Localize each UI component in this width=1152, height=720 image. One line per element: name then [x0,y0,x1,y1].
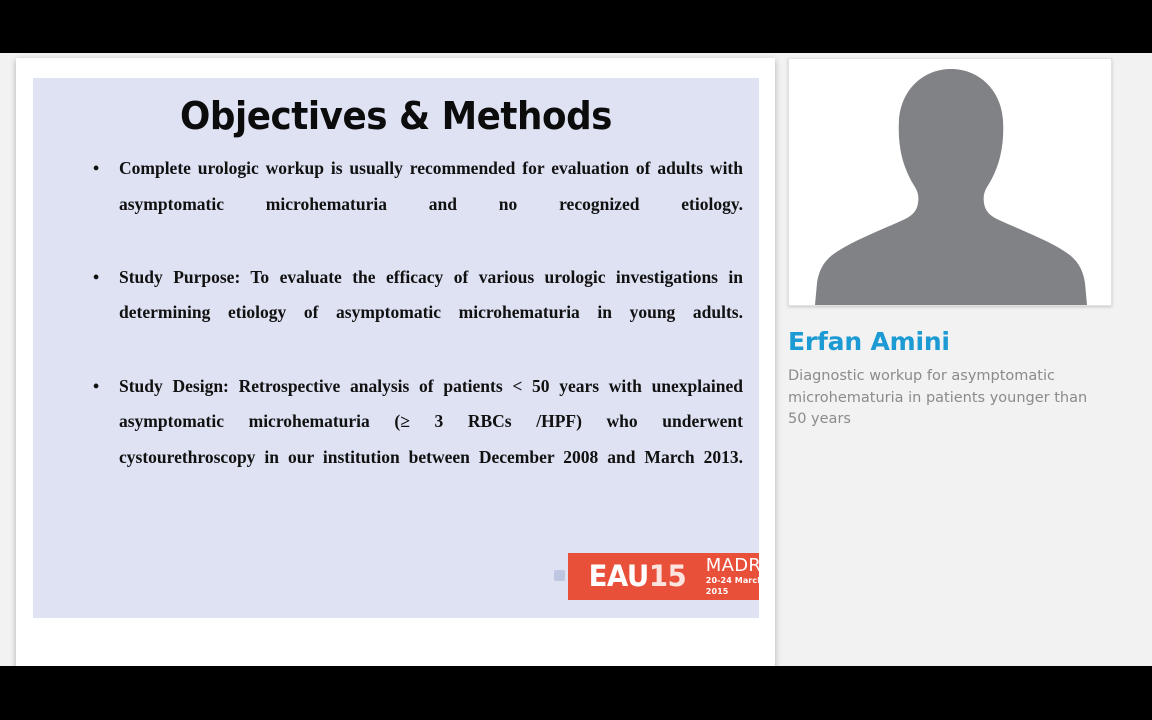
speaker-photo [788,58,1112,306]
eau-logo-city: MADRID [706,556,759,575]
presentation-viewer: Objectives & Methods • Complete urologic… [0,0,1152,720]
slide-canvas: Objectives & Methods • Complete urologic… [33,78,759,618]
slide-bullet-item: • Complete urologic workup is usually re… [61,151,743,258]
letterbox-bar-top [0,0,1152,53]
bullet-marker-icon: • [93,260,99,296]
bullet-marker-icon: • [93,369,99,405]
speaker-talk-title: Diagnostic workup for asymptomatic micro… [788,366,1110,431]
eau-logo-year: 15 [649,559,686,593]
eau-logo-brand: EAU [589,559,649,593]
slide-bullet-item: • Study Purpose: To evaluate the efficac… [61,260,743,367]
slide-title: Objectives & Methods [55,94,737,138]
slide-artifact-dot [554,570,565,581]
speaker-panel: Erfan Amini Diagnostic workup for asympt… [788,58,1112,478]
slide-bullet-item: • Study Design: Retrospective analysis o… [61,369,743,511]
eau-logo-location-block: MADRID 20-24 March 2015 [706,556,759,597]
bullet-text: Study Design: Retrospective analysis of … [119,369,743,511]
slide-bullet-list: • Complete urologic workup is usually re… [61,151,743,513]
eau-logo-dates: 20-24 March 2015 [706,575,759,597]
viewer-page: Objectives & Methods • Complete urologic… [0,53,1152,666]
bullet-text: Complete urologic workup is usually reco… [119,151,743,258]
bullet-marker-icon: • [93,151,99,187]
person-silhouette-icon [789,58,1112,305]
eau-logo-wordmark: EAU15 [589,562,687,591]
bullet-text: Study Purpose: To evaluate the efficacy … [119,260,743,367]
eau-congress-logo: EAU15 MADRID 20-24 March 2015 [568,553,759,600]
letterbox-bar-bottom [0,666,1152,720]
slide-card[interactable]: Objectives & Methods • Complete urologic… [16,58,775,685]
speaker-name: Erfan Amini [788,327,1112,357]
